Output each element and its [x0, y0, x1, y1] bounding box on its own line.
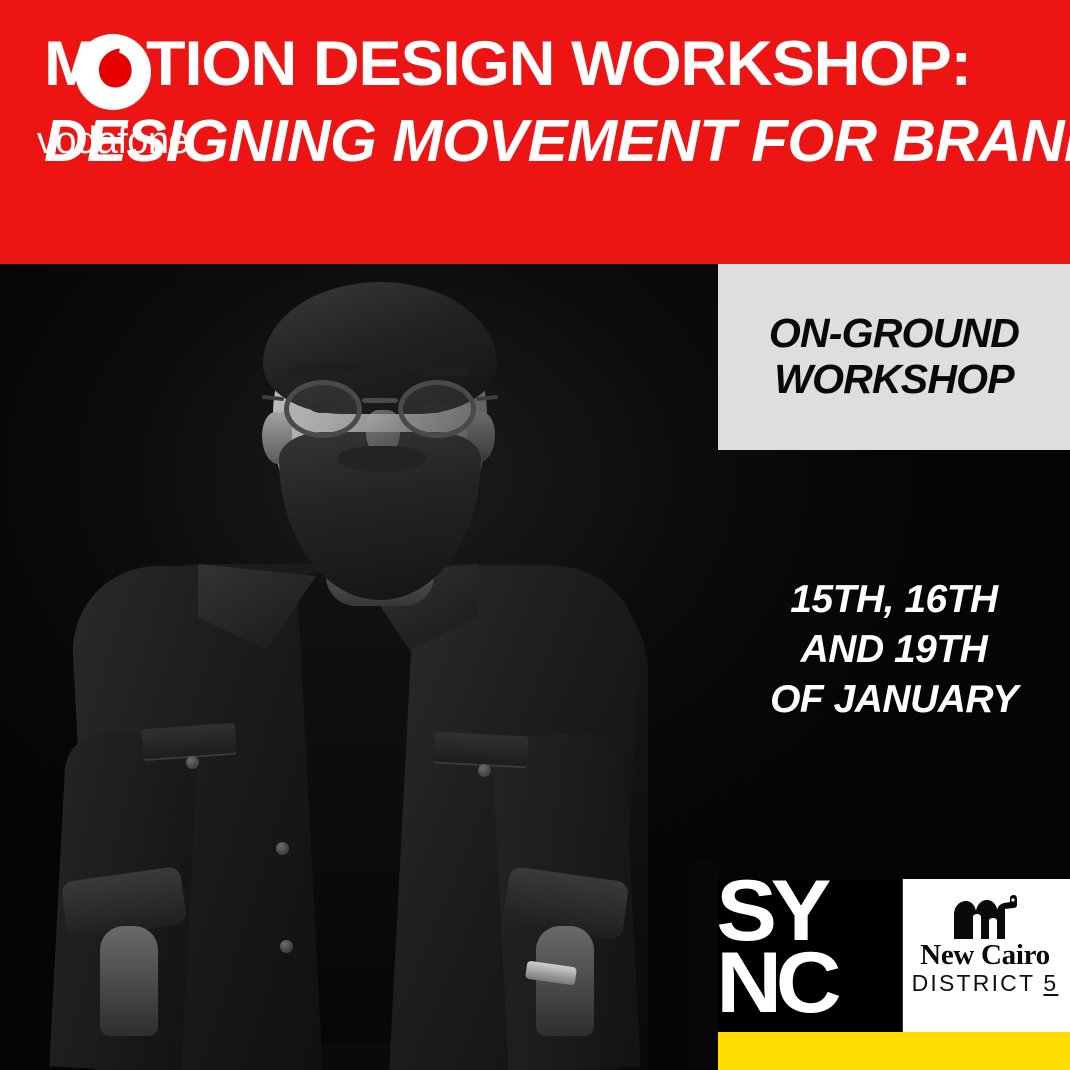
- vodafone-circle: [75, 34, 151, 110]
- event-dates: 15TH, 16TH AND 19TH OF JANUARY: [718, 575, 1070, 725]
- on-ground-workshop-badge: ON-GROUND WORKSHOP: [718, 264, 1070, 450]
- jacket-button: [478, 764, 491, 777]
- district-5-subtitle: DISTRICT 5: [904, 972, 1066, 995]
- vodafone-wordmark: vodafone: [18, 122, 208, 160]
- jacket-button: [280, 940, 293, 953]
- eyeglass-lens-right: [398, 380, 476, 438]
- logo-panel-gutter: [690, 860, 718, 1070]
- vodafone-speechmark-icon: [75, 34, 151, 110]
- subject-hand-left: [100, 926, 158, 1036]
- eyeglasses-icon: [282, 380, 478, 438]
- badge-text: ON-GROUND WORKSHOP: [769, 311, 1019, 403]
- sync-logo: SY NC: [718, 879, 903, 1032]
- jacket-pocket-left: [141, 723, 237, 761]
- camel-icon: [952, 893, 1018, 939]
- jacket-button: [276, 842, 289, 855]
- badge-line-1: ON-GROUND: [769, 310, 1019, 356]
- date-line-2: AND 19TH: [801, 628, 988, 671]
- eyeglass-temple-right: [476, 395, 498, 401]
- date-line-1: 15TH, 16TH: [790, 578, 997, 621]
- district-number: 5: [1043, 970, 1058, 996]
- vodafone-logo: vodafone: [18, 34, 208, 160]
- jacket-button: [186, 756, 199, 769]
- eyeglass-lens-left: [284, 380, 362, 438]
- yellow-footer-strip: [718, 1032, 1070, 1070]
- portrait-subject: [30, 264, 690, 1070]
- new-cairo-name: New Cairo: [904, 941, 1066, 970]
- subject-mustache: [338, 446, 426, 472]
- district-label: DISTRICT: [912, 970, 1044, 996]
- event-poster: MOTION DESIGN WORKSHOP: DESIGNING MOVEME…: [0, 0, 1070, 1070]
- partner-logos: SY NC New Cairo DISTRICT 5: [718, 879, 1070, 1032]
- eyeglass-bridge: [362, 398, 398, 403]
- new-cairo-district-5-logo: New Cairo DISTRICT 5: [904, 893, 1066, 995]
- date-line-3: OF JANUARY: [770, 678, 1018, 721]
- jacket-pocket-right: [433, 732, 529, 769]
- sync-logo-line-2: NC: [718, 947, 903, 1019]
- badge-line-2: WORKSHOP: [774, 356, 1014, 402]
